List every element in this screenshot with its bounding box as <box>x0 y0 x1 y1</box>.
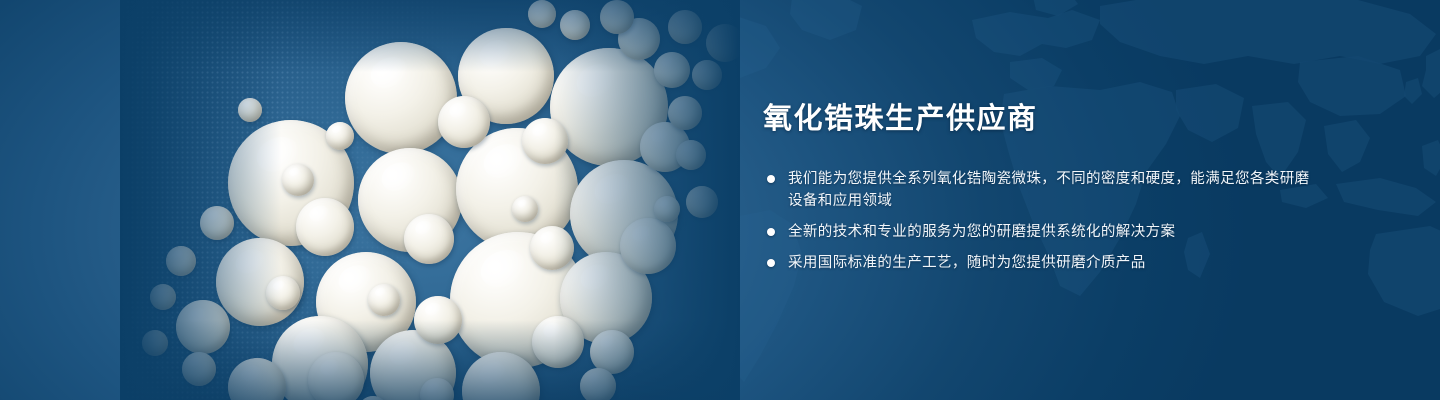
bullet-dot-icon <box>767 175 775 183</box>
list-item-label: 采用国际标准的生产工艺，随时为您提供研磨介质产品 <box>788 255 1146 271</box>
banner-feature-list: 我们能为您提供全系列氧化锆陶瓷微珠，不同的密度和硬度，能满足您各类研磨设备和应用… <box>763 168 1323 274</box>
list-item: 采用国际标准的生产工艺，随时为您提供研磨介质产品 <box>763 252 1323 274</box>
bullet-dot-icon <box>767 259 775 267</box>
list-item-label: 全新的技术和专业的服务为您的研磨提供系统化的解决方案 <box>788 224 1175 240</box>
list-item: 全新的技术和专业的服务为您的研磨提供系统化的解决方案 <box>763 221 1323 243</box>
bullet-dot-icon <box>767 228 775 236</box>
hero-banner: 氧化锆珠生产供应商 我们能为您提供全系列氧化锆陶瓷微珠，不同的密度和硬度，能满足… <box>0 0 1440 400</box>
banner-headline: 氧化锆珠生产供应商 <box>763 102 1323 137</box>
list-item: 我们能为您提供全系列氧化锆陶瓷微珠，不同的密度和硬度，能满足您各类研磨设备和应用… <box>763 168 1323 212</box>
banner-content: 氧化锆珠生产供应商 我们能为您提供全系列氧化锆陶瓷微珠，不同的密度和硬度，能满足… <box>763 102 1323 274</box>
list-item-label: 我们能为您提供全系列氧化锆陶瓷微珠，不同的密度和硬度，能满足您各类研磨设备和应用… <box>788 171 1310 209</box>
